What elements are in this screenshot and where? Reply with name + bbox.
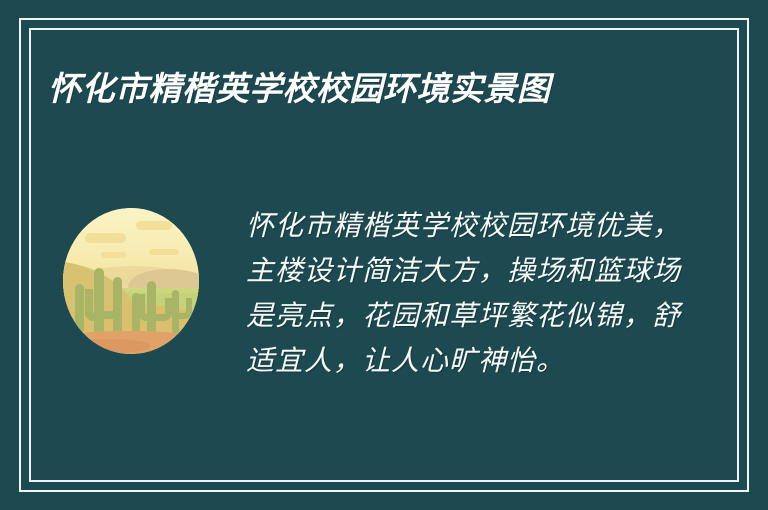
cactus-arm [179,298,193,319]
cactus-icon [94,268,104,338]
cloud-icon [101,252,125,258]
content-row: 怀化市精楷英学校校园环境优美，主楼设计简洁大方，操场和篮球场是亮点，花园和草坪繁… [48,196,708,384]
body-paragraph: 怀化市精楷英学校校园环境优美，主楼设计简洁大方，操场和篮球场是亮点，花园和草坪繁… [246,204,708,384]
cloud-icon [136,221,171,230]
cloud-icon [85,233,126,243]
sand-shadow [71,339,150,352]
cactus-icon [113,277,122,338]
cactus-icon [75,284,84,334]
body-text-container: 怀化市精楷英学校校园环境优美，主楼设计简洁大方，操场和篮球场是亮点，花园和草坪繁… [199,196,708,384]
cactus-icon [172,290,179,334]
cactus-arm [138,294,155,321]
illustration-container [63,208,199,354]
desert-landscape-icon [63,208,199,354]
page-title: 怀化市精楷英学校校园环境实景图 [48,62,668,116]
title-block: 怀化市精楷英学校校园环境实景图 [48,62,668,116]
cactus-arm [155,298,172,322]
poster-canvas: 怀化市精楷英学校校园环境实景图 [0,0,768,510]
cactus-arm [85,289,103,321]
cactus-icon [147,281,156,336]
cloud-icon [149,249,179,255]
